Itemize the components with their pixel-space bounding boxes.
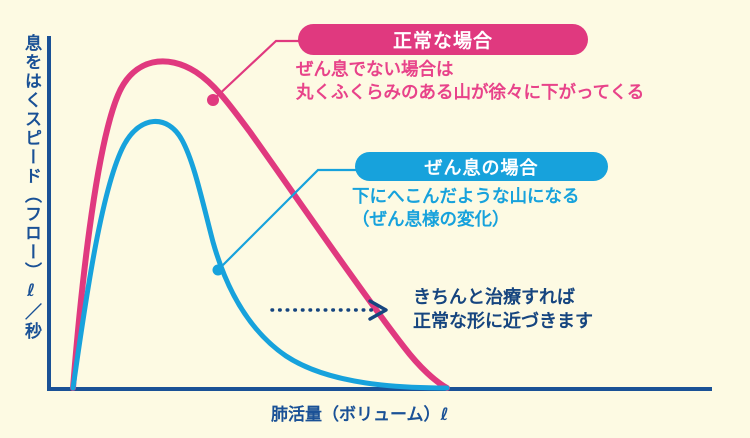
treatment-note-line2: 正常な形に近づきます — [413, 311, 593, 332]
asthma-desc-line2: （ぜん息様の変化） — [352, 210, 510, 230]
y-axis-label: 息をはくスピード（フロー）ℓ／秒 — [14, 34, 44, 374]
asthma-case-badge: ぜん息の場合 — [355, 152, 608, 181]
asthma-desc-line1: 下にへこんだような山になる — [352, 187, 580, 207]
normal-case-badge: 正常な場合 — [298, 24, 588, 55]
normal-desc-line2: 丸くふくらみのある山が徐々に下がってくる — [296, 83, 644, 103]
normal-curve-marker — [207, 94, 219, 106]
treatment-note-line1: きちんと治療すれば — [413, 287, 575, 308]
x-axis-label: 肺活量（ボリューム）ℓ — [271, 404, 449, 426]
normal-leader-line — [213, 41, 300, 100]
treatment-note: きちんと治療すれば正常な形に近づきます — [413, 286, 593, 334]
asthma-case-description: 下にへこんだような山になる（ぜん息様の変化） — [352, 186, 580, 232]
normal-desc-line1: ぜん息でない場合は — [296, 60, 454, 80]
asthma-curve-marker — [213, 265, 224, 276]
normal-case-description: ぜん息でない場合は丸くふくらみのある山が徐々に下がってくる — [296, 59, 644, 105]
flow-volume-curve-figure: 息をはくスピード（フロー）ℓ／秒 肺活量（ボリューム）ℓ 正常な場合 ぜん息でな… — [0, 0, 750, 438]
